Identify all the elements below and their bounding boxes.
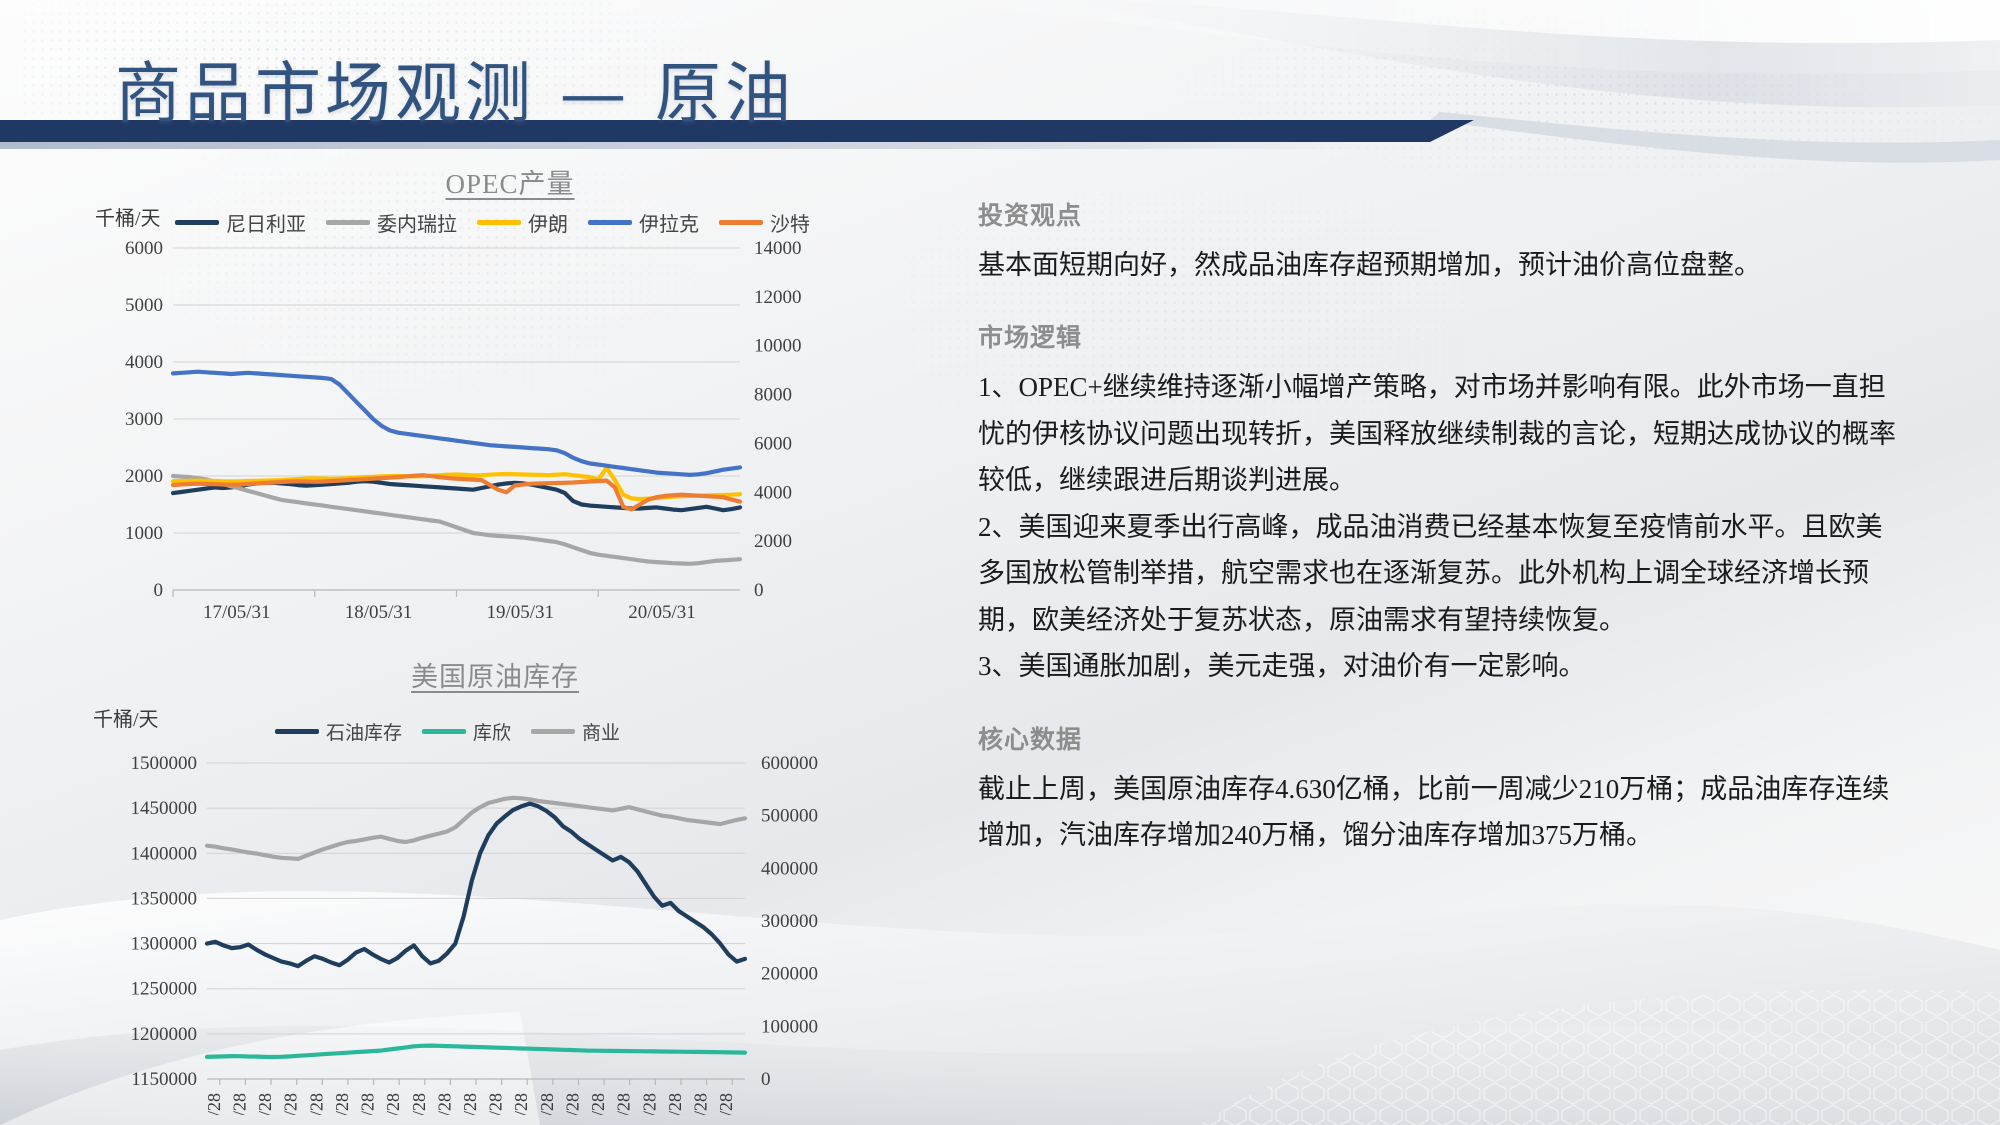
legend-label: 沙特 <box>770 208 810 237</box>
svg-text:4000: 4000 <box>125 352 163 373</box>
svg-text:14000: 14000 <box>754 240 802 259</box>
paragraph: 2、美国迎来夏季出行高峰，成品油消费已经基本恢复至疫情前水平。且欧美多国放松管制… <box>978 504 1898 643</box>
svg-text:600000: 600000 <box>761 755 818 774</box>
paragraph: 截止上周，美国原油库存4.630亿桶，比前一周减少210万桶；成品油库存连续增加… <box>978 766 1898 859</box>
legend-item: 委内瑞拉 <box>326 208 457 237</box>
svg-text:0: 0 <box>154 580 164 601</box>
page-title: 商品市场观测 — 原油 <box>115 40 795 136</box>
svg-text:6000: 6000 <box>125 240 163 259</box>
x-axis-tick-label: 20/05/31 <box>628 602 696 623</box>
x-axis-tick-label: 19/09/28 <box>281 1093 301 1115</box>
section-body: 截止上周，美国原油库存4.630亿桶，比前一周减少210万桶；成品油库存连续增加… <box>978 766 1898 859</box>
x-axis-tick-label: 20/10/28 <box>614 1093 634 1115</box>
svg-text:6000: 6000 <box>754 433 792 454</box>
legend-label: 委内瑞拉 <box>377 208 457 237</box>
legend-item: 伊朗 <box>477 208 568 237</box>
legend-label: 商业 <box>582 718 620 745</box>
chart-legend: 石油库存库欣商业 <box>275 718 620 745</box>
chart-legend: 尼日利亚委内瑞拉伊朗伊拉克沙特 <box>175 208 810 237</box>
x-axis-tick-label: 20/08/28 <box>563 1093 583 1115</box>
x-axis-tick-label: 18/05/31 <box>345 602 413 623</box>
legend-item: 伊拉克 <box>588 208 699 237</box>
section-heading: 市场逻辑 <box>978 318 1898 354</box>
y-axis-unit-label: 千桶/天 <box>95 202 161 231</box>
dotted-world-map-decoration <box>1120 0 2000 200</box>
x-axis-tick-label: 21/01/28 <box>691 1093 711 1115</box>
x-axis-tick-label: 20/06/28 <box>511 1093 531 1115</box>
svg-text:10000: 10000 <box>754 336 802 357</box>
svg-text:4000: 4000 <box>754 482 792 503</box>
chart-us-crude-inventory: 美国原油库存 千桶/天 石油库存库欣商业 1500000145000014000… <box>85 655 945 1115</box>
legend-item: 尼日利亚 <box>175 208 306 237</box>
svg-text:1200000: 1200000 <box>131 1024 198 1045</box>
legend-item: 库欣 <box>422 718 511 745</box>
legend-label: 尼日利亚 <box>226 208 306 237</box>
legend-color-swatch <box>477 220 521 225</box>
svg-text:1150000: 1150000 <box>131 1069 197 1090</box>
svg-text:1250000: 1250000 <box>131 979 198 1000</box>
svg-text:1000: 1000 <box>125 523 163 544</box>
paragraph: 基本面短期向好，然成品油库存超预期增加，预计油价高位盘整。 <box>978 242 1898 288</box>
svg-text:1500000: 1500000 <box>131 755 198 774</box>
x-axis-tick-label: 19/11/28 <box>332 1093 352 1115</box>
svg-text:400000: 400000 <box>761 858 818 879</box>
svg-text:8000: 8000 <box>754 385 792 406</box>
legend-color-swatch <box>531 729 575 734</box>
series-line-伊拉克 <box>173 372 740 475</box>
svg-text:2000: 2000 <box>125 466 163 487</box>
legend-color-swatch <box>588 220 632 225</box>
svg-text:200000: 200000 <box>761 964 818 985</box>
section-heading: 投资观点 <box>978 196 1898 232</box>
legend-label: 石油库存 <box>326 718 402 745</box>
legend-item: 沙特 <box>719 208 810 237</box>
x-axis-tick-label: 20/04/28 <box>460 1093 480 1115</box>
svg-text:1450000: 1450000 <box>131 798 198 819</box>
legend-color-swatch <box>422 729 466 734</box>
chart-plot-area: 1500000145000014000001350000130000012500… <box>85 755 945 1115</box>
chart-title: OPEC产量 <box>95 162 925 201</box>
x-axis-tick-label: 20/01/28 <box>383 1093 403 1115</box>
legend-label: 伊朗 <box>528 208 568 237</box>
x-axis-tick-label: 19/12/28 <box>358 1093 378 1115</box>
svg-text:1350000: 1350000 <box>131 888 198 909</box>
svg-text:100000: 100000 <box>761 1016 818 1037</box>
svg-text:1400000: 1400000 <box>131 843 198 864</box>
paragraph: 1、OPEC+继续维持逐渐小幅增产策略，对市场并影响有限。此外市场一直担忧的伊核… <box>978 364 1898 503</box>
legend-item: 石油库存 <box>275 718 402 745</box>
svg-text:0: 0 <box>761 1069 771 1090</box>
x-axis-tick-label: 20/12/28 <box>665 1093 685 1115</box>
section-investment-view: 投资观点 基本面短期向好，然成品油库存超预期增加，预计油价高位盘整。 <box>978 196 1898 288</box>
svg-text:0: 0 <box>754 580 764 601</box>
svg-text:12000: 12000 <box>754 287 802 308</box>
legend-label: 库欣 <box>473 718 511 745</box>
x-axis-tick-label: 20/07/28 <box>537 1093 557 1115</box>
chart-opec-production: OPEC产量 千桶/天 尼日利亚委内瑞拉伊朗伊拉克沙特 600050004000… <box>95 160 925 630</box>
x-axis-tick-label: 19/05/31 <box>487 602 555 623</box>
svg-text:1300000: 1300000 <box>131 934 198 955</box>
section-body: 1、OPEC+继续维持逐渐小幅增产策略，对市场并影响有限。此外市场一直担忧的伊核… <box>978 364 1898 689</box>
x-axis-tick-label: 20/05/28 <box>486 1093 506 1115</box>
chart-title: 美国原油库存 <box>65 655 925 694</box>
series-line-商业 <box>207 798 745 859</box>
x-axis-tick-label: 20/11/28 <box>639 1093 659 1115</box>
series-line-石油库存 <box>207 804 745 967</box>
legend-color-swatch <box>719 220 763 225</box>
legend-item: 商业 <box>531 718 620 745</box>
x-axis-tick-label: 19/07/28 <box>229 1093 249 1115</box>
legend-label: 伊拉克 <box>639 208 699 237</box>
svg-text:2000: 2000 <box>754 531 792 552</box>
x-axis-tick-label: 20/09/28 <box>588 1093 608 1115</box>
x-axis-tick-label: 20/03/28 <box>434 1093 454 1115</box>
y-axis-unit-label: 千桶/天 <box>93 703 159 732</box>
svg-text:5000: 5000 <box>125 295 163 316</box>
legend-color-swatch <box>175 220 219 225</box>
section-core-data: 核心数据 截止上周，美国原油库存4.630亿桶，比前一周减少210万桶；成品油库… <box>978 720 1898 859</box>
x-axis-tick-label: 21/02/28 <box>716 1093 736 1115</box>
svg-text:300000: 300000 <box>761 911 818 932</box>
paragraph: 3、美国通胀加剧，美元走强，对油价有一定影响。 <box>978 643 1898 689</box>
x-axis-tick-label: 19/10/28 <box>306 1093 326 1115</box>
x-axis-tick-label: 17/05/31 <box>203 602 271 623</box>
x-axis-tick-label: 20/02/28 <box>409 1093 429 1115</box>
chart-plot-area: 6000500040003000200010000140001200010000… <box>95 240 925 630</box>
header-accent-bar-shadow <box>0 142 1380 149</box>
slide-background: 商品市场观测 — 原油 OPEC产量 千桶/天 尼日利亚委内瑞拉伊朗伊拉克沙特 … <box>0 0 2000 1125</box>
legend-color-swatch <box>275 729 319 734</box>
series-line-库欣 <box>207 1046 745 1057</box>
svg-text:3000: 3000 <box>125 409 163 430</box>
section-heading: 核心数据 <box>978 720 1898 756</box>
svg-text:500000: 500000 <box>761 806 818 827</box>
x-axis-tick-label: 19/08/28 <box>255 1093 275 1115</box>
x-axis-tick-label: 19/06/28 <box>204 1093 224 1115</box>
commentary-panel: 投资观点 基本面短期向好，然成品油库存超预期增加，预计油价高位盘整。 市场逻辑 … <box>978 196 1898 888</box>
section-market-logic: 市场逻辑 1、OPEC+继续维持逐渐小幅增产策略，对市场并影响有限。此外市场一直… <box>978 318 1898 689</box>
legend-color-swatch <box>326 220 370 225</box>
section-body: 基本面短期向好，然成品油库存超预期增加，预计油价高位盘整。 <box>978 242 1898 288</box>
